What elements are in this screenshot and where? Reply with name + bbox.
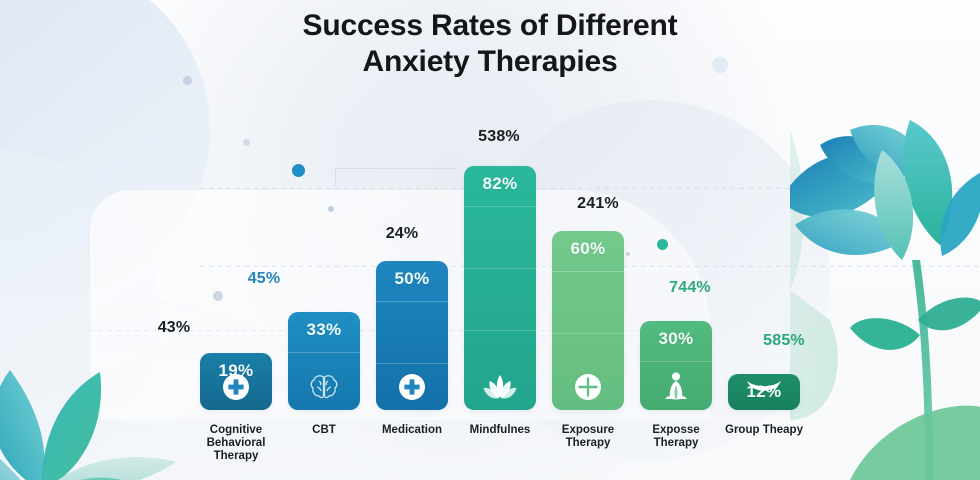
- x-axis-label: Medication: [366, 424, 458, 437]
- x-axis-label: CBT: [278, 424, 370, 437]
- bar-value-label: 30%: [640, 329, 712, 349]
- meditation-person-icon: [640, 370, 712, 404]
- bar-2[interactable]: 33%: [288, 312, 360, 410]
- bar-group: 19%: [200, 353, 272, 410]
- bar-value-label: 60%: [552, 239, 624, 259]
- x-axis-labels: Cognitive Behavioral TherapyCBTMedicatio…: [200, 424, 800, 480]
- lotus-flower-graphic-right: [790, 120, 980, 480]
- title-line-1: Success Rates of Different: [303, 9, 678, 42]
- bar-secondary-label: 24%: [347, 225, 457, 243]
- bar-secondary-label: 43%: [119, 319, 229, 337]
- bar-group: 82%: [464, 166, 536, 410]
- page-title: Success Rates of Different Anxiety Thera…: [0, 8, 980, 80]
- bar-1[interactable]: 19%: [200, 353, 272, 410]
- lotus-petal-accent: [930, 170, 980, 260]
- bar-value-label: 50%: [376, 269, 448, 289]
- bar-series: 19%43%33%45%50%24%82%538%60%241%30%744%1…: [200, 100, 800, 410]
- bar-group: 60%: [552, 231, 624, 410]
- bar-5[interactable]: 60%: [552, 231, 624, 410]
- bar-secondary-label: 744%: [635, 279, 745, 297]
- x-axis-label: Group Theapy: [718, 424, 810, 437]
- infographic-canvas: Success Rates of Different Anxiety Thera…: [0, 0, 980, 480]
- bar-6[interactable]: 30%: [640, 321, 712, 410]
- bar-group: 33%: [288, 312, 360, 410]
- bar-secondary-label: 538%: [444, 128, 554, 146]
- x-axis-label: Exposse Therapy: [630, 424, 722, 450]
- bar-3[interactable]: 50%: [376, 261, 448, 410]
- medical-plus-icon: [376, 370, 448, 404]
- bar-secondary-label: 585%: [729, 332, 839, 350]
- bar-group: 12%: [728, 374, 800, 410]
- bar-value-label: 82%: [464, 174, 536, 194]
- group-bowl-icon: [728, 374, 800, 404]
- x-axis-label: Cognitive Behavioral Therapy: [190, 424, 282, 463]
- x-axis-label: Mindfulnes: [454, 424, 546, 437]
- bar-chart: 19%43%33%45%50%24%82%538%60%241%30%744%1…: [200, 100, 800, 410]
- bar-value-label: 33%: [288, 320, 360, 340]
- bar-secondary-label: 45%: [209, 270, 319, 288]
- medical-plus-icon: [200, 370, 272, 404]
- title-line-2: Anxiety Therapies: [0, 44, 980, 80]
- bar-secondary-label: 241%: [543, 195, 653, 213]
- background-blob-left-2: [0, 150, 160, 480]
- bar-4[interactable]: 82%: [464, 166, 536, 410]
- plus-circle-icon: [552, 370, 624, 404]
- bar-7[interactable]: 12%: [728, 374, 800, 410]
- lotus-icon: [464, 370, 536, 404]
- x-axis-label: Exposure Therapy: [542, 424, 634, 450]
- brain-icon: [288, 370, 360, 404]
- bar-group: 30%: [640, 321, 712, 410]
- bar-group: 50%: [376, 261, 448, 410]
